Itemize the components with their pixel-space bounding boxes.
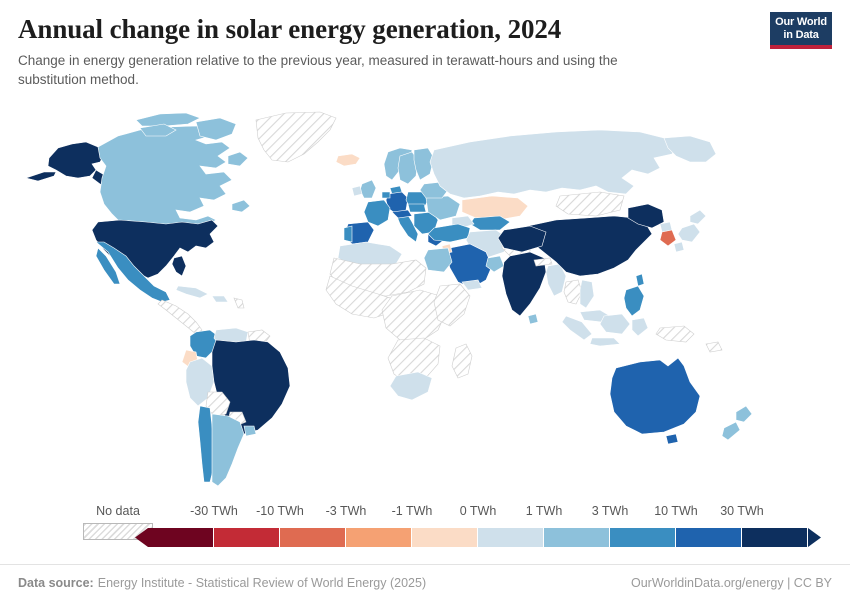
country-indonesia-sulawesi[interactable]	[632, 318, 648, 336]
legend-tick-1: -10 TWh	[256, 505, 304, 518]
legend-left-cap-icon	[135, 528, 148, 547]
country-iceland[interactable]	[336, 154, 360, 166]
country-argentina[interactable]	[212, 414, 244, 486]
country-papua-new-guinea[interactable]	[656, 326, 694, 342]
legend-bin-2[interactable]	[280, 528, 346, 547]
legend-tick-0: -30 TWh	[190, 505, 238, 518]
country-aleutians[interactable]	[26, 172, 56, 181]
owid-logo[interactable]: Our World in Data	[770, 12, 832, 49]
legend-bin-9[interactable]	[742, 528, 808, 547]
page-title: Annual change in solar energy generation…	[18, 14, 832, 44]
country-new-zealand[interactable]	[736, 406, 752, 422]
chart-header: Annual change in solar energy generation…	[0, 0, 850, 90]
country-uruguay[interactable]	[244, 426, 256, 436]
legend-scale[interactable]: -30 TWh-10 TWh-3 TWh-1 TWh0 TWh1 TWh3 TW…	[148, 505, 808, 551]
world-map-svg[interactable]	[0, 100, 850, 495]
country-tasmania[interactable]	[666, 434, 678, 444]
data-source-label: Data source:	[18, 576, 94, 590]
country-japan[interactable]	[690, 210, 706, 224]
footer-attribution[interactable]: OurWorldinData.org/energy | CC BY	[631, 576, 832, 590]
country-portugal[interactable]	[344, 226, 352, 242]
country-madagascar[interactable]	[452, 344, 472, 378]
legend-tick-labels: -30 TWh-10 TWh-3 TWh-1 TWh0 TWh1 TWh3 TW…	[148, 505, 808, 523]
legend-tick-4: 0 TWh	[460, 505, 497, 518]
legend-tick-8: 30 TWh	[720, 505, 764, 518]
legend-tick-7: 10 TWh	[654, 505, 698, 518]
data-source: Data source: Energy Institute - Statisti…	[18, 576, 426, 590]
country-japan-honshu[interactable]	[678, 224, 700, 242]
country-indonesia-borneo[interactable]	[600, 314, 630, 334]
map-countries[interactable]	[26, 112, 752, 486]
legend-tick-2: -3 TWh	[326, 505, 367, 518]
legend-bin-3[interactable]	[346, 528, 412, 547]
legend-tick-3: -1 TWh	[392, 505, 433, 518]
country-netherlands[interactable]	[382, 192, 390, 198]
country-canada-baffin[interactable]	[196, 118, 236, 140]
country-us-florida[interactable]	[172, 256, 186, 276]
legend-color-bar[interactable]	[148, 528, 808, 547]
country-canada-arctic-isles[interactable]	[136, 113, 200, 126]
chart-root: Annual change in solar energy generation…	[0, 0, 850, 600]
country-south-africa[interactable]	[390, 372, 432, 400]
country-egypt[interactable]	[424, 248, 452, 272]
country-china[interactable]	[528, 216, 652, 276]
legend-bin-1[interactable]	[214, 528, 280, 547]
country-canada-quebec-isles[interactable]	[228, 152, 248, 166]
country-south-korea[interactable]	[660, 230, 676, 246]
country-laos-thailand[interactable]	[564, 280, 582, 304]
legend-bin-4[interactable]	[412, 528, 478, 547]
country-canada[interactable]	[98, 126, 232, 228]
legend-bin-5[interactable]	[478, 528, 544, 547]
data-source-value: Energy Institute - Statistical Review of…	[98, 576, 426, 590]
country-chile[interactable]	[198, 406, 214, 482]
legend-bin-6[interactable]	[544, 528, 610, 547]
country-indonesia-java[interactable]	[590, 338, 620, 346]
country-vietnam[interactable]	[580, 280, 594, 308]
legend-right-cap-icon	[808, 528, 821, 547]
country-new-zealand-south[interactable]	[722, 422, 740, 440]
country-mongolia[interactable]	[556, 192, 624, 216]
country-east-africa[interactable]	[434, 284, 470, 326]
country-lesser-antilles[interactable]	[234, 298, 244, 308]
country-greenland[interactable]	[256, 112, 336, 162]
country-philippines[interactable]	[624, 286, 644, 316]
owid-logo-line2: in Data	[774, 29, 828, 42]
country-australia[interactable]	[610, 358, 700, 434]
world-map[interactable]	[0, 100, 850, 495]
chart-footer: Data source: Energy Institute - Statisti…	[0, 564, 850, 600]
country-ireland[interactable]	[352, 186, 362, 196]
country-pacific-islands[interactable]	[706, 342, 722, 352]
legend-tick-6: 3 TWh	[592, 505, 629, 518]
country-russia-far-east[interactable]	[664, 136, 716, 162]
country-taiwan[interactable]	[636, 274, 644, 286]
legend-bin-7[interactable]	[610, 528, 676, 547]
country-hispaniola[interactable]	[212, 296, 228, 302]
legend-bin-0[interactable]	[148, 528, 214, 547]
map-legend: No data -30 TWh-10 TWh-3 TWh-1 TWh0 TWh1…	[0, 505, 850, 553]
chart-subtitle: Change in energy generation relative to …	[18, 51, 678, 89]
country-uzbekistan-turkmenistan[interactable]	[470, 216, 510, 230]
country-russia[interactable]	[430, 130, 678, 198]
country-yemen[interactable]	[462, 280, 482, 290]
country-czechia-slovakia[interactable]	[408, 204, 426, 212]
legend-tick-5: 1 TWh	[526, 505, 563, 518]
country-newfoundland[interactable]	[232, 200, 250, 212]
legend-bin-8[interactable]	[676, 528, 742, 547]
country-japan-kyushu[interactable]	[674, 242, 684, 252]
country-united-kingdom[interactable]	[360, 180, 376, 198]
owid-logo-line1: Our World	[774, 16, 828, 29]
country-central-america[interactable]	[158, 300, 202, 334]
country-sri-lanka[interactable]	[528, 314, 538, 324]
country-cuba[interactable]	[176, 286, 208, 298]
